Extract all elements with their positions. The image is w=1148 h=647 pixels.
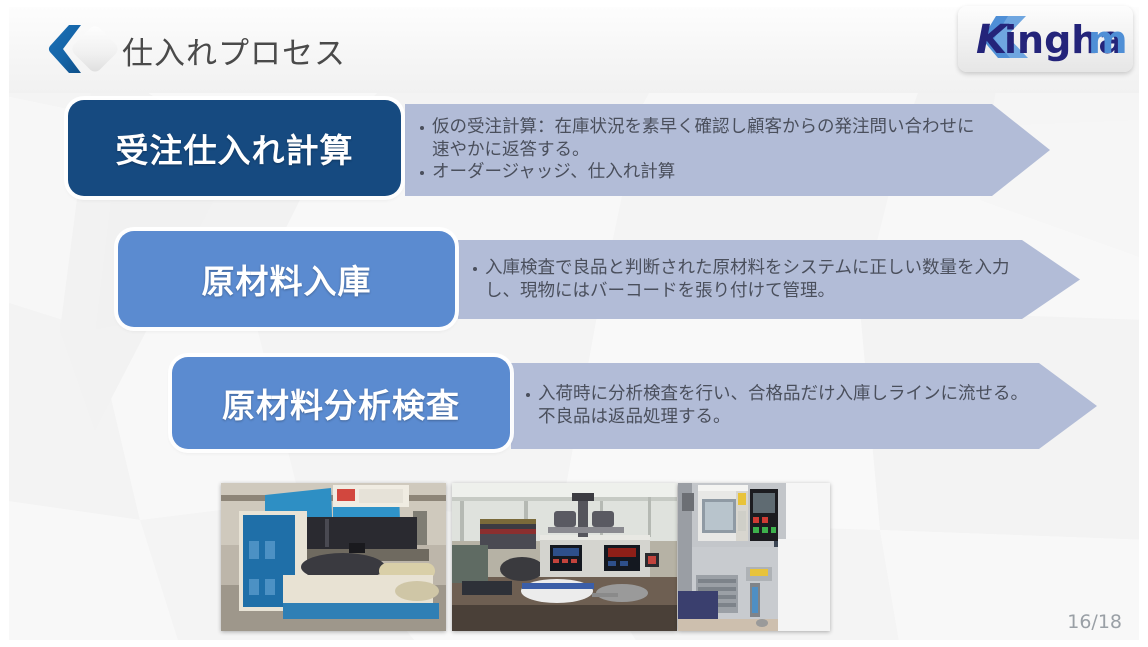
- process-arrow-3: 入荷時に分析検査を行い、合格品だけ入庫しラインに流せる。不良品は返品処理する。: [511, 363, 1097, 449]
- arrow-text-1: 仮の受注計算：在庫状況を素早く確認し顧客からの発注問い合わせに速やかに返答する。…: [419, 104, 986, 196]
- bullet-item: 仮の受注計算：在庫状況を素早く確認し顧客からの発注問い合わせに速やかに返答する。: [419, 116, 986, 162]
- frame-edge-bottom: [0, 640, 1148, 647]
- fabric-inspection-machine-image: [221, 483, 446, 631]
- process-arrow-2: 入庫検査で良品と判断された原材料をシステムに正しい数量を入力し、現物にはバーコー…: [458, 240, 1080, 319]
- environmental-test-chamber-image: [678, 483, 830, 631]
- stage-box-2[interactable]: 原材料入庫: [118, 231, 455, 327]
- stage-box-1[interactable]: 受注仕入れ計算: [68, 100, 401, 196]
- photo-environmental-test-chamber: [678, 483, 830, 631]
- diamond-chevron-logo-icon: [44, 22, 118, 78]
- frame-edge-left: [0, 0, 9, 647]
- stage-box-3[interactable]: 原材料分析検査: [172, 357, 510, 449]
- laboratory-testing-machine-image: [452, 483, 677, 631]
- page-title: 仕入れプロセス: [122, 28, 346, 73]
- stage-label-3: 原材料分析検査: [222, 379, 460, 427]
- page-number: 16/18: [1067, 611, 1122, 633]
- bullet-item: 入庫検査で良品と判断された原材料をシステムに正しい数量を入力し、現物にはバーコー…: [472, 257, 1016, 303]
- frame-edge-right: [1139, 0, 1148, 647]
- stage-label-2: 原材料入庫: [202, 255, 372, 303]
- process-arrow-1: 仮の受注計算：在庫状況を素早く確認し顧客からの発注問い合わせに速やかに返答する。…: [405, 104, 1050, 196]
- slide: 仕入れプロセス K ingha m 仮の受注計算：在庫状況を素早く確認し顧客から…: [0, 0, 1148, 647]
- bullet-item: 入荷時に分析検査を行い、合格品だけ入庫しラインに流せる。不良品は返品処理する。: [525, 383, 1033, 429]
- photo-laboratory-testing-machine: [452, 483, 677, 631]
- brand-logo-badge: K ingha m: [958, 6, 1133, 72]
- bullet-item: オーダージャッジ、仕入れ計算: [419, 161, 986, 184]
- kingham-wordmark-icon: K ingha m: [958, 6, 1133, 72]
- arrow-text-2: 入庫検査で良品と判断された原材料をシステムに正しい数量を入力し、現物にはバーコー…: [472, 240, 1016, 319]
- svg-text:m: m: [1088, 18, 1128, 62]
- stage-label-1: 受注仕入れ計算: [116, 124, 354, 172]
- photo-fabric-inspection-machine: [221, 483, 446, 631]
- arrow-text-3: 入荷時に分析検査を行い、合格品だけ入庫しラインに流せる。不良品は返品処理する。: [525, 363, 1033, 449]
